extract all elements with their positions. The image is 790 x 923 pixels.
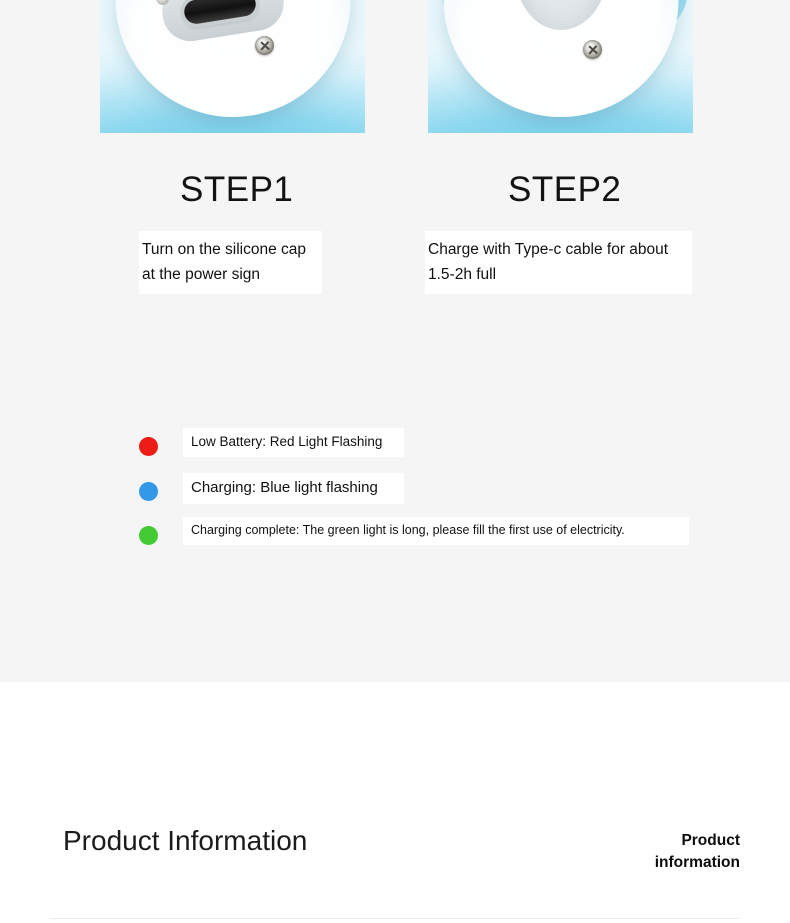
step1-title: STEP1	[180, 170, 293, 210]
step1-product-photo	[100, 0, 365, 133]
status-row: Charging: Blue light flashing	[139, 473, 404, 504]
blue-status-dot-icon	[139, 482, 158, 501]
green-status-dot-icon	[139, 526, 158, 545]
product-information-subheading: Product information	[655, 830, 740, 874]
product-information-heading: Product Information	[63, 825, 307, 857]
step2-title: STEP2	[508, 170, 621, 210]
step2-product-photo	[428, 0, 693, 133]
screw-icon	[583, 40, 602, 59]
product-information-section: Product Information Product information	[0, 682, 790, 923]
status-label: Charging: Blue light flashing	[183, 473, 404, 504]
charging-instructions-section: STEP1 STEP2 Turn on the silicone cap at …	[0, 0, 790, 682]
heading-highlight-strip	[324, 829, 337, 884]
step2-description: Charge with Type-c cable for about 1.5-2…	[425, 231, 692, 294]
step1-description: Turn on the silicone cap at the power si…	[139, 231, 322, 294]
status-label: Low Battery: Red Light Flashing	[183, 428, 404, 457]
red-status-dot-icon	[139, 437, 158, 456]
section-divider	[50, 918, 740, 919]
status-row: Charging complete: The green light is lo…	[139, 517, 689, 545]
status-label: Charging complete: The green light is lo…	[183, 517, 689, 545]
status-row: Low Battery: Red Light Flashing	[139, 428, 404, 457]
screw-icon	[255, 36, 274, 55]
